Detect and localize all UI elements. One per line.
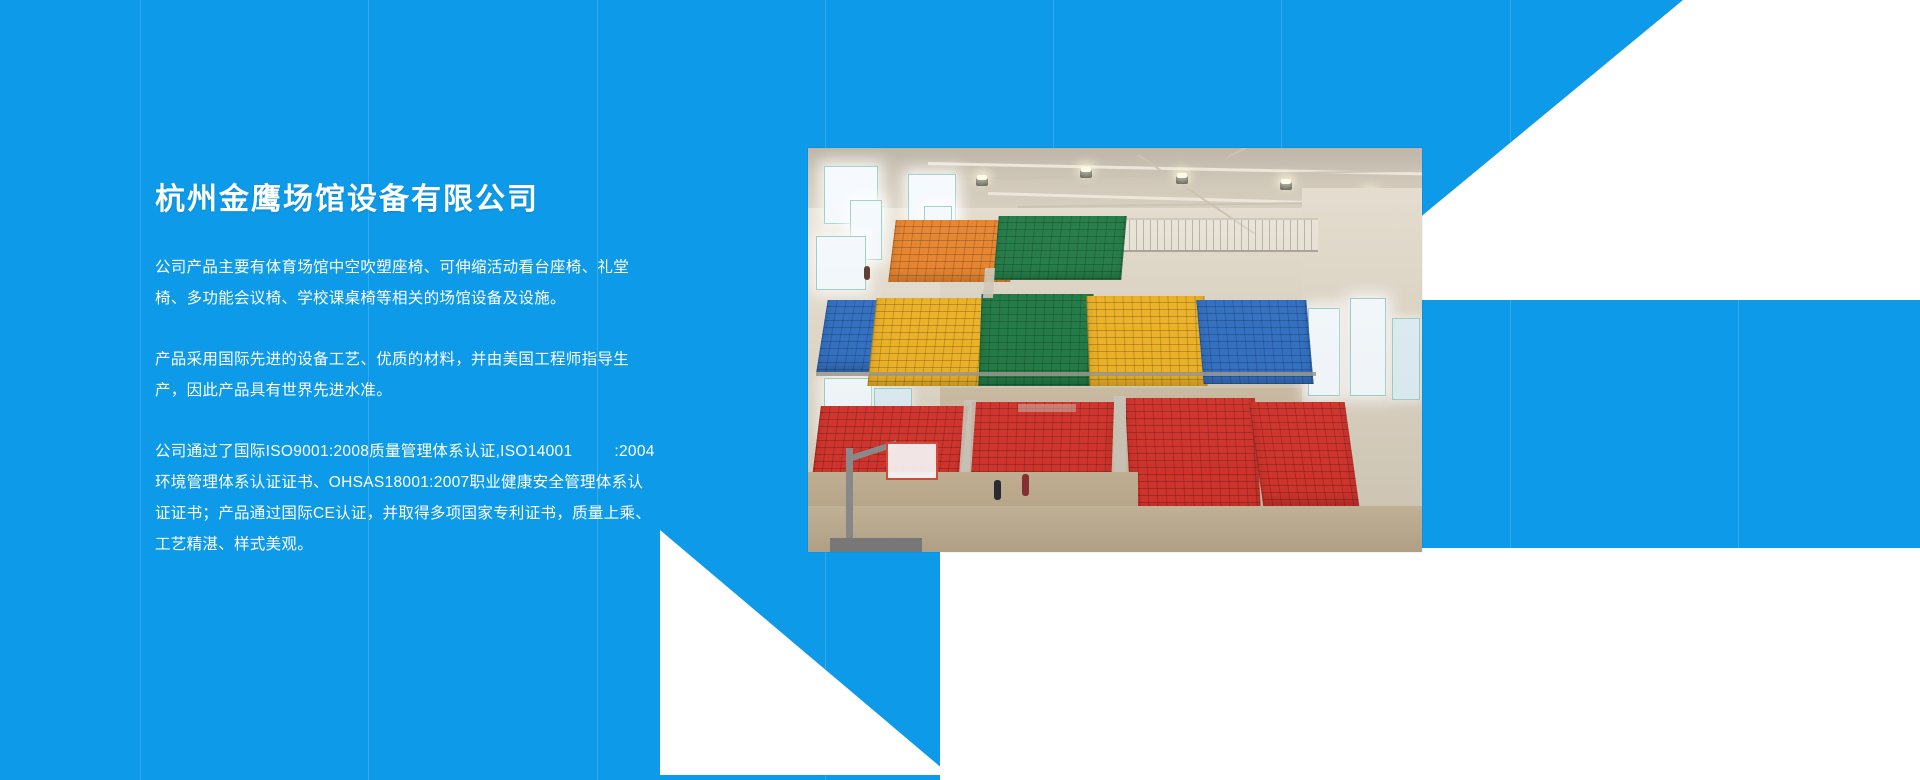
seating-block [1249, 402, 1360, 506]
aisle-step [1018, 404, 1076, 412]
gym-photo [808, 148, 1422, 552]
ceiling-lamp [1176, 176, 1188, 184]
gym-photo-canvas [808, 148, 1422, 552]
hoop-pole [846, 448, 853, 552]
hoop-base [830, 538, 922, 552]
person [864, 266, 870, 280]
paragraph-products: 公司产品主要有体育场馆中空吹塑座椅、可伸缩活动看台座椅、礼堂椅、多功能会议椅、学… [155, 252, 655, 314]
certification-line-a: 公司通过了国际ISO9001:2008质量管理体系认证,ISO14001 [155, 443, 572, 460]
paragraph-certification: 公司通过了国际ISO9001:2008质量管理体系认证,ISO14001:200… [155, 436, 655, 560]
seating-block [1125, 398, 1261, 514]
window [816, 236, 866, 290]
paragraph-quality: 产品采用国际先进的设备工艺、优质的材料，并由美国工程师指导生产，因此产品具有世界… [155, 344, 655, 406]
ceiling-lamp [1280, 182, 1292, 190]
bottom-white-band [940, 548, 1920, 780]
balcony-railing [1108, 218, 1318, 252]
intro-copy-block: 杭州金鹰场馆设备有限公司 公司产品主要有体育场馆中空吹塑座椅、可伸缩活动看台座椅… [155, 182, 655, 560]
company-title: 杭州金鹰场馆设备有限公司 [155, 182, 655, 218]
person [994, 480, 1001, 500]
guard-rail [816, 372, 1316, 376]
banner-stage: 杭州金鹰场馆设备有限公司 公司产品主要有体育场馆中空吹塑座椅、可伸缩活动看台座椅… [0, 0, 1920, 780]
seating-block [993, 216, 1127, 280]
ceiling-lamp [1080, 170, 1092, 178]
backboard [886, 442, 938, 480]
window [1350, 298, 1386, 396]
aisle-stairs [983, 268, 995, 298]
ceiling-lamp [976, 178, 988, 186]
person [1022, 474, 1029, 496]
window [1392, 318, 1420, 400]
